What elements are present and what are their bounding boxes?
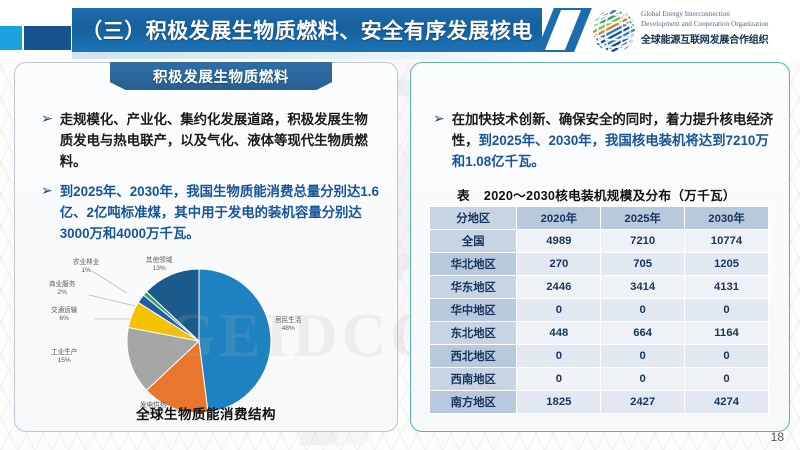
table-cell-2025: 2427: [601, 391, 685, 414]
left-bullet-2-text: 到2025年、2030年，我国生物质能消费总量分别达1.6亿、2亿吨标准煤，其中…: [60, 181, 385, 244]
nuclear-capacity-table: 分地区 2020年 2025年 2030年 全国4989721010774华北地…: [429, 206, 769, 414]
table-cell-2025: 0: [601, 345, 685, 368]
table-cell-2020: 270: [517, 253, 601, 276]
table-cell-2030: 4131: [685, 276, 769, 299]
pie-label-commercial-name: 商业服务: [49, 281, 75, 289]
bullet-arrow-icon: ➢: [41, 109, 53, 129]
table-cell-region: 西南地区: [430, 368, 517, 391]
table-body: 全国4989721010774华北地区2707051205华东地区2446341…: [430, 230, 769, 414]
table-cell-2025: 664: [601, 322, 685, 345]
header-accent-square-light: [0, 26, 22, 50]
table-cell-region: 东北地区: [430, 322, 517, 345]
logo-en-line1: Global Energy Interconnection: [641, 10, 800, 20]
pie-label-agriculture-name: 农业林业: [73, 259, 99, 267]
pie-label-industry-name: 工业生产: [51, 349, 77, 357]
pie-label-agriculture: 农业林业 1%: [73, 259, 99, 276]
table-cell-2030: 4274: [685, 391, 769, 414]
table-row: 华东地区244634144131: [430, 276, 769, 299]
table-cell-2020: 448: [517, 322, 601, 345]
table-row: 东北地区4486641164: [430, 322, 769, 345]
table-col-2020: 2020年: [517, 207, 601, 230]
table-cell-2030: 1205: [685, 253, 769, 276]
table-caption-label: 表: [457, 189, 470, 203]
table-cell-2020: 4989: [517, 230, 601, 253]
biomass-consumption-pie-chart: 农业林业 1% 其他领域 13% 商业服务 2% 交通运输 6% 工业生产 15…: [29, 253, 381, 428]
right-content-panel: 安全有序发展核电 ➢ 在加快技术创新、确保安全的同时，着力提升核电经济性，到20…: [410, 62, 790, 432]
pie-chart-svg: [29, 253, 381, 428]
pie-label-commercial: 商业服务 2%: [49, 281, 75, 298]
table-cell-2030: 0: [685, 345, 769, 368]
table-col-2030: 2030年: [685, 207, 769, 230]
table-cell-2020: 0: [517, 299, 601, 322]
left-content-panel: 积极发展生物质燃料 ➢ 走规模化、产业化、集约化发展道路，积极发展生物质发电与热…: [14, 62, 398, 432]
pie-label-other-name: 其他领域: [146, 257, 172, 265]
slide-title-bar: （三）积极发展生物质燃料、安全有序发展核电: [72, 8, 542, 52]
chart-caption: 全球生物质能消费结构: [15, 403, 397, 423]
pie-slice-0: [199, 269, 271, 412]
table-cell-2030: 10774: [685, 230, 769, 253]
slide-header: （三）积极发展生物质燃料、安全有序发展核电: [0, 0, 800, 62]
table-cell-2025: 3414: [601, 276, 685, 299]
left-bullet-2: ➢ 到2025年、2030年，我国生物质能消费总量分别达1.6亿、2亿吨标准煤，…: [41, 181, 385, 244]
table-row: 全国4989721010774: [430, 230, 769, 253]
left-panel-title: 积极发展生物质燃料: [110, 62, 332, 90]
pie-label-industry-value: 15%: [51, 357, 77, 365]
table-row: 西南地区000: [430, 368, 769, 391]
table-row: 华北地区2707051205: [430, 253, 769, 276]
pie-label-residential: 居民生活 48%: [275, 317, 301, 334]
pie-label-other-value: 13%: [146, 265, 172, 273]
right-bullet-1-text: 在加快技术创新、确保安全的同时，着力提升核电经济性，到2025年、2030年，我…: [452, 109, 775, 172]
table-cell-2020: 0: [517, 345, 601, 368]
pie-label-residential-value: 48%: [275, 325, 301, 333]
table-row: 南方地区182524274274: [430, 391, 769, 414]
table-row: 西北地区000: [430, 345, 769, 368]
pie-slices: [127, 269, 271, 413]
pie-label-agriculture-value: 1%: [73, 267, 99, 275]
table-cell-2030: 0: [685, 299, 769, 322]
pie-label-other: 其他领域 13%: [146, 257, 172, 274]
globe-logo-icon: [590, 7, 638, 55]
pie-label-transport-value: 6%: [51, 315, 77, 323]
table-cell-region: 华中地区: [430, 299, 517, 322]
pie-label-commercial-value: 2%: [49, 289, 75, 297]
left-bullet-1-text: 走规模化、产业化、集约化发展道路，积极发展生物质发电与热电联产，以及气化、液体等…: [60, 109, 381, 172]
pie-label-transport-name: 交通运输: [51, 307, 77, 315]
table-col-2025: 2025年: [601, 207, 685, 230]
table-cell-region: 南方地区: [430, 391, 517, 414]
table-cell-2020: 0: [517, 368, 601, 391]
bullet-arrow-icon: ➢: [41, 181, 53, 201]
table-cell-2025: 705: [601, 253, 685, 276]
table-cell-2030: 1164: [685, 322, 769, 345]
pie-label-residential-name: 居民生活: [275, 317, 301, 325]
right-bullet-1: ➢ 在加快技术创新、确保安全的同时，着力提升核电经济性，到2025年、2030年…: [433, 109, 775, 172]
table-cell-2030: 0: [685, 368, 769, 391]
pie-label-industry: 工业生产 15%: [51, 349, 77, 366]
table-header-row: 分地区 2020年 2025年 2030年: [430, 207, 769, 230]
table-cell-region: 西北地区: [430, 345, 517, 368]
page-title: （三）积极发展生物质燃料、安全有序发展核电: [81, 15, 533, 45]
pie-label-transport: 交通运输 6%: [51, 307, 77, 324]
table-cell-region: 华北地区: [430, 253, 517, 276]
table-caption: 表2020～2030核电装机规模及分布（万千瓦）: [457, 185, 736, 204]
bullet-arrow-icon: ➢: [433, 109, 445, 129]
table-cell-2020: 2446: [517, 276, 601, 299]
right-bullet-1-highlight: 到2025年、2030年，我国核电装机将达到7210万和1.08亿千瓦。: [452, 133, 769, 169]
table-cell-region: 华东地区: [430, 276, 517, 299]
logo-en-line2: Development and Cooperation Organization: [641, 20, 800, 30]
table-caption-text: 2020～2030核电装机规模及分布（万千瓦）: [484, 189, 736, 203]
organization-name: Global Energy Interconnection Developmen…: [641, 10, 800, 46]
table-cell-2020: 1825: [517, 391, 601, 414]
header-accent-square-dark: [24, 26, 71, 50]
page-number: 18: [771, 430, 784, 444]
table-cell-region: 全国: [430, 230, 517, 253]
table-cell-2025: 7210: [601, 230, 685, 253]
header-title-underline: [72, 52, 572, 59]
table-row: 华中地区000: [430, 299, 769, 322]
logo-cn-name: 全球能源互联网发展合作组织: [641, 31, 800, 46]
table-cell-2025: 0: [601, 299, 685, 322]
left-bullet-1: ➢ 走规模化、产业化、集约化发展道路，积极发展生物质发电与热电联产，以及气化、液…: [41, 109, 381, 172]
table-col-region: 分地区: [430, 207, 517, 230]
table-cell-2025: 0: [601, 368, 685, 391]
